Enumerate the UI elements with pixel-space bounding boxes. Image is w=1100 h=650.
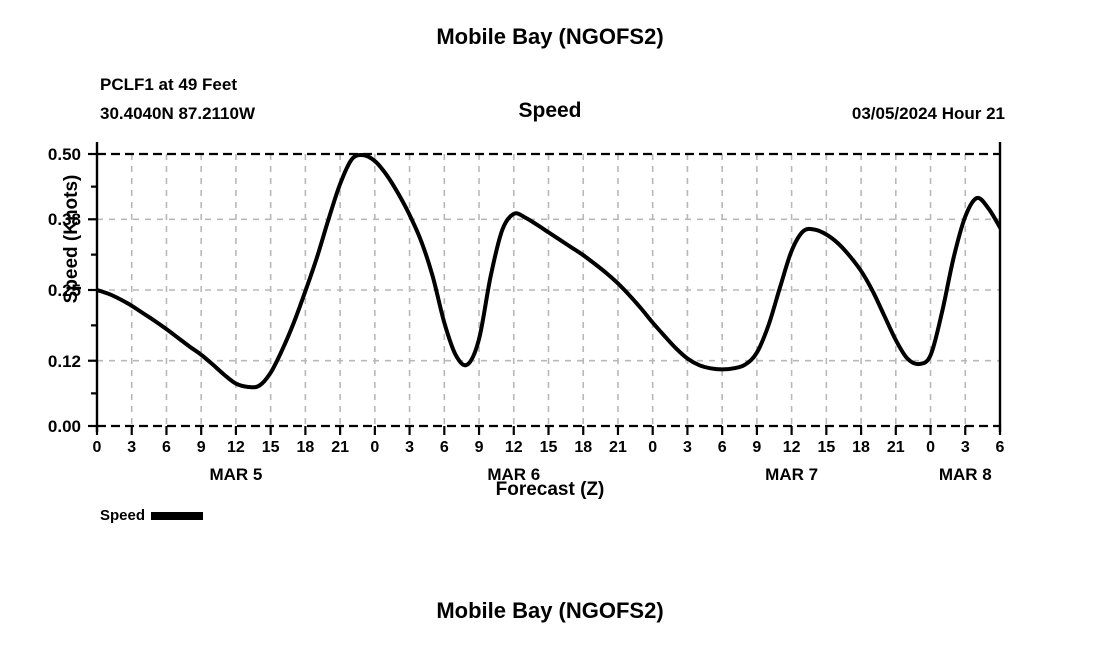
- footer-title: Mobile Bay (NGOFS2): [0, 598, 1100, 624]
- x-tick-label: 0: [638, 440, 668, 456]
- x-tick-label: 12: [499, 440, 529, 456]
- x-tick-label: 0: [360, 440, 390, 456]
- x-tick-label: 9: [464, 440, 494, 456]
- x-tick-label: 15: [256, 440, 286, 456]
- x-tick-label: 9: [742, 440, 772, 456]
- y-tick-label: 0.38: [21, 211, 81, 228]
- x-tick-label: 6: [707, 440, 737, 456]
- x-tick-label: 9: [186, 440, 216, 456]
- series-line: [1000, 227, 1100, 335]
- x-tick-label: 21: [881, 440, 911, 456]
- x-tick-label: 21: [603, 440, 633, 456]
- x-tick-label: 15: [534, 440, 564, 456]
- y-tick-label: 0.00: [21, 418, 81, 435]
- x-tick-label: 3: [672, 440, 702, 456]
- x-tick-label: 18: [846, 440, 876, 456]
- x-tick-label: 3: [395, 440, 425, 456]
- legend-line-swatch: [151, 512, 203, 520]
- x-tick-label: 12: [221, 440, 251, 456]
- plot-area: Speed (Knots) 0.500.380.250.120.00 03691…: [0, 0, 1100, 650]
- legend-label: Speed: [100, 508, 145, 523]
- series-group: [97, 155, 1100, 387]
- y-tick-label: 0.50: [21, 146, 81, 163]
- x-axis-title: Forecast (Z): [0, 479, 1100, 501]
- x-tick-label: 15: [811, 440, 841, 456]
- x-tick-label: 6: [151, 440, 181, 456]
- chart-svg: [0, 0, 1100, 650]
- x-tick-label: 0: [916, 440, 946, 456]
- x-tick-label: 0: [82, 440, 112, 456]
- x-tick-label: 12: [777, 440, 807, 456]
- y-tick-label: 0.12: [21, 353, 81, 370]
- x-tick-label: 6: [429, 440, 459, 456]
- x-tick-label: 6: [985, 440, 1015, 456]
- chart-page: Mobile Bay (NGOFS2) PCLF1 at 49 Feet 30.…: [0, 0, 1100, 650]
- x-tick-label: 21: [325, 440, 355, 456]
- x-tick-label: 3: [117, 440, 147, 456]
- x-tick-label: 3: [950, 440, 980, 456]
- series-line: [97, 155, 1000, 387]
- x-tick-label: 18: [290, 440, 320, 456]
- legend: Speed: [100, 508, 203, 523]
- x-tick-label: 18: [568, 440, 598, 456]
- y-tick-label: 0.25: [21, 282, 81, 299]
